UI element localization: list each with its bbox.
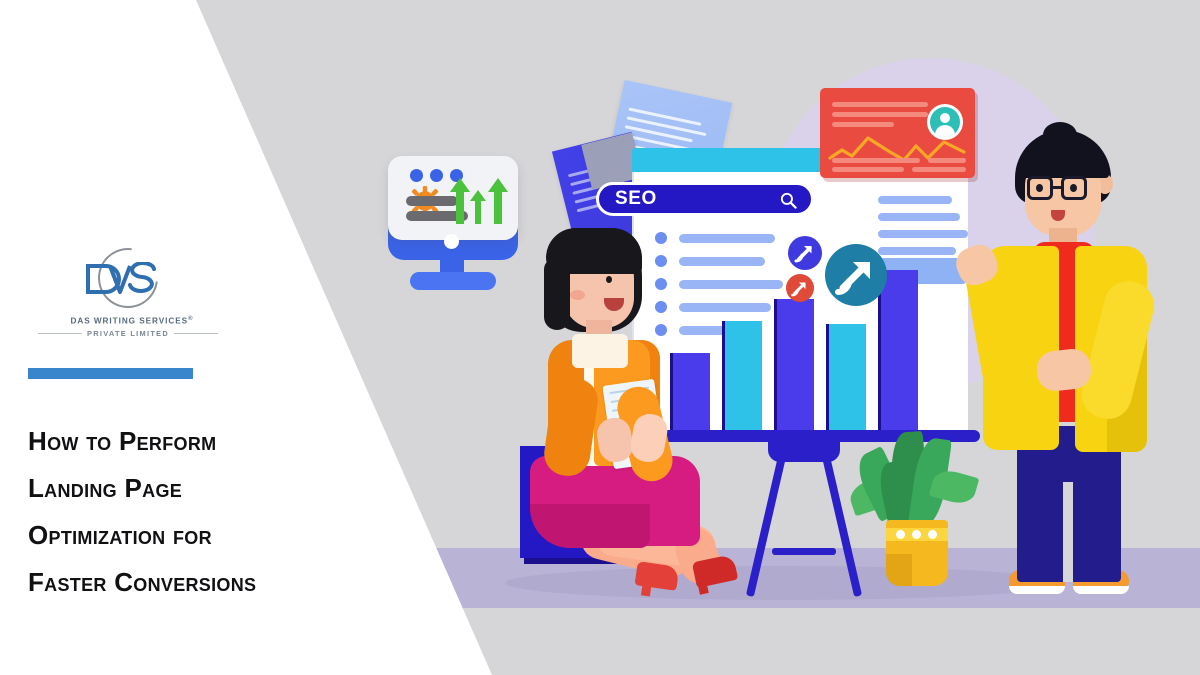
title-line-2: Landing Page bbox=[28, 465, 358, 512]
arrow-up-right-icon bbox=[825, 244, 887, 306]
monitor-foot bbox=[410, 272, 496, 290]
woman-cheek bbox=[570, 290, 585, 300]
monitor-screen bbox=[388, 156, 518, 240]
brand-logo[interactable]: DAS WRITING SERVICES® PRIVATE LIMITED bbox=[38, 248, 218, 338]
arrow-up-icon bbox=[470, 190, 486, 224]
card-line bbox=[832, 158, 920, 163]
pot-shading bbox=[886, 554, 912, 586]
chart-bar bbox=[774, 299, 814, 430]
man-eye-right bbox=[1070, 184, 1077, 192]
pot-decoration bbox=[896, 530, 905, 539]
woman-eye bbox=[606, 276, 612, 283]
card-line bbox=[832, 112, 928, 117]
woman-skirt-shade bbox=[530, 504, 650, 548]
card-line bbox=[912, 167, 966, 172]
analytics-card bbox=[820, 88, 975, 178]
pot-decoration bbox=[928, 530, 937, 539]
man-sole-left bbox=[1009, 586, 1065, 594]
seo-search-bar[interactable]: SEO bbox=[596, 182, 814, 216]
monitor-camera-dot bbox=[444, 234, 459, 249]
brand-name-secondary: PRIVATE LIMITED bbox=[38, 329, 218, 338]
arrow-up-right-icon bbox=[788, 236, 822, 270]
blog-banner: SEO bbox=[0, 0, 1200, 675]
das-logo-mark bbox=[84, 248, 172, 310]
large-teal-arrow-badge bbox=[825, 244, 887, 306]
brand-name-primary: DAS WRITING SERVICES® bbox=[42, 316, 222, 326]
easel-crossbar bbox=[772, 548, 836, 555]
illustration-stage: SEO bbox=[400, 0, 1200, 675]
brand-subtitle-text: PRIVATE LIMITED bbox=[87, 329, 169, 338]
card-line bbox=[832, 167, 904, 172]
woman-hair-side bbox=[544, 258, 570, 330]
trend-line-chart bbox=[828, 128, 968, 162]
card-line bbox=[832, 102, 928, 107]
glasses-bridge bbox=[1053, 186, 1061, 189]
accent-bar bbox=[28, 368, 193, 379]
man-eye-left bbox=[1036, 184, 1043, 192]
woman-collar bbox=[572, 334, 628, 368]
card-line bbox=[832, 122, 894, 127]
title-line-1: How to Perform bbox=[28, 418, 358, 465]
chart-bar bbox=[826, 324, 866, 430]
arrow-up-icon bbox=[488, 178, 508, 224]
title-line-4: Faster Conversions bbox=[28, 559, 358, 606]
man-pants-gap bbox=[1063, 482, 1073, 582]
title-line-3: Optimization for bbox=[28, 512, 358, 559]
das-monogram-icon bbox=[84, 262, 172, 296]
arrow-up-right-icon bbox=[786, 274, 814, 302]
magnifier-icon[interactable] bbox=[779, 191, 798, 210]
avatar-head bbox=[940, 113, 950, 123]
logo-rule-left bbox=[38, 333, 82, 334]
seo-search-query: SEO bbox=[615, 188, 657, 210]
small-red-arrow-badge bbox=[786, 274, 814, 302]
board-side-text bbox=[878, 196, 968, 264]
pot-decoration bbox=[912, 530, 921, 539]
potted-plant bbox=[848, 436, 978, 576]
registered-trademark: ® bbox=[188, 316, 193, 322]
standing-man bbox=[975, 130, 1175, 600]
man-hair-fringe bbox=[1017, 144, 1109, 178]
card-line bbox=[928, 158, 966, 163]
man-sole-right bbox=[1073, 586, 1129, 594]
seated-woman bbox=[520, 228, 750, 568]
arrow-up-icon bbox=[450, 178, 470, 224]
logo-rule-right bbox=[174, 333, 218, 334]
small-blue-arrow-badge bbox=[788, 236, 822, 270]
brand-name-text: DAS WRITING SERVICES bbox=[71, 317, 189, 326]
page-title: How to Perform Landing Page Optimization… bbox=[28, 418, 358, 606]
seo-monitor-icon bbox=[378, 152, 528, 302]
